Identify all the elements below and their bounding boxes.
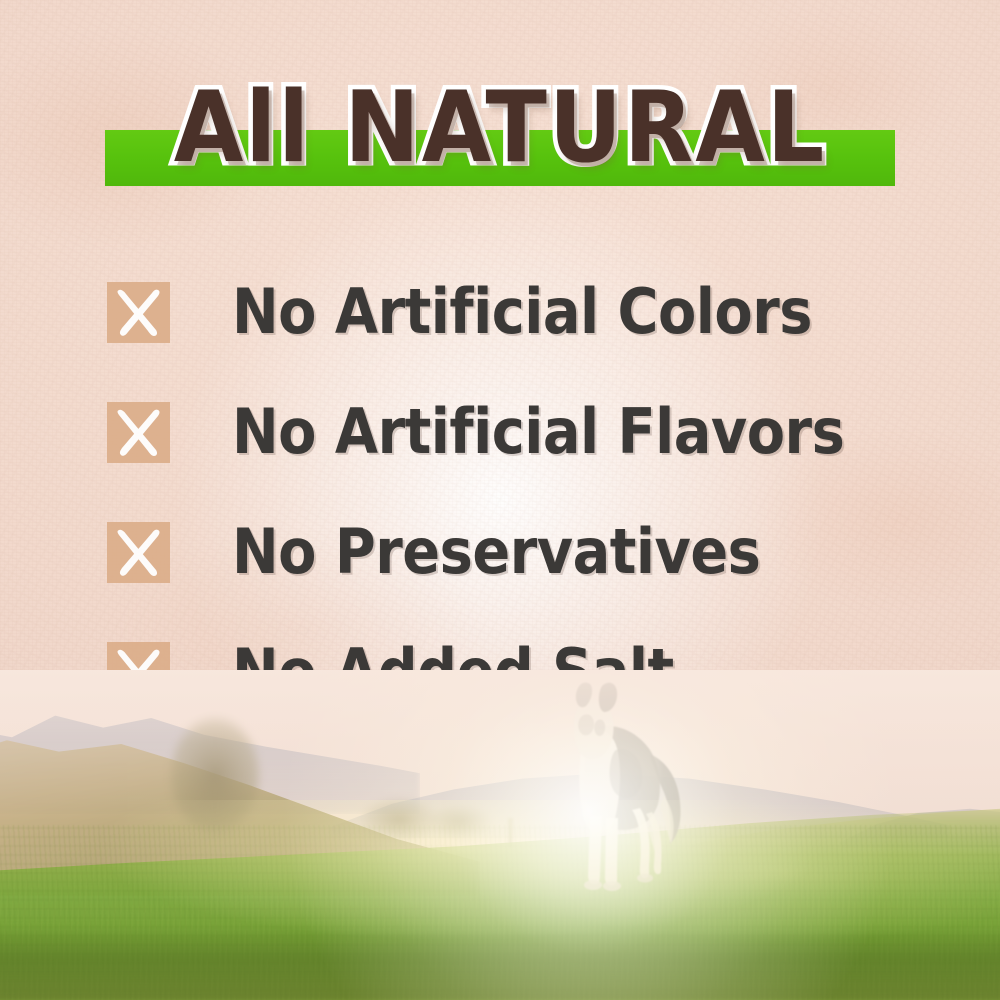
claims-list: No Artificial Colors No Artificial Flavo… — [107, 252, 907, 732]
landscape-photo — [0, 670, 1000, 1000]
checkbox-marker — [107, 402, 170, 463]
grass-foreground-shadow — [0, 928, 1000, 1000]
claim-label: No Artificial Colors — [232, 280, 812, 344]
headline-banner: All NATURAL — [0, 72, 1000, 192]
claim-label: No Preservatives — [232, 520, 760, 584]
dog — [532, 676, 702, 896]
page-title: All NATURAL — [0, 72, 1000, 184]
all-natural-poster: All NATURAL No Artificial Colors No Arti… — [0, 0, 1000, 1000]
claim-label: No Artificial Flavors — [232, 400, 844, 464]
x-mark-icon — [107, 402, 170, 463]
x-mark-icon — [107, 282, 170, 343]
checkbox-marker — [107, 522, 170, 583]
list-item: No Artificial Flavors — [107, 372, 907, 492]
list-item: No Artificial Colors — [107, 252, 907, 372]
list-item: No Preservatives — [107, 492, 907, 612]
x-mark-icon — [107, 522, 170, 583]
checkbox-marker — [107, 282, 170, 343]
